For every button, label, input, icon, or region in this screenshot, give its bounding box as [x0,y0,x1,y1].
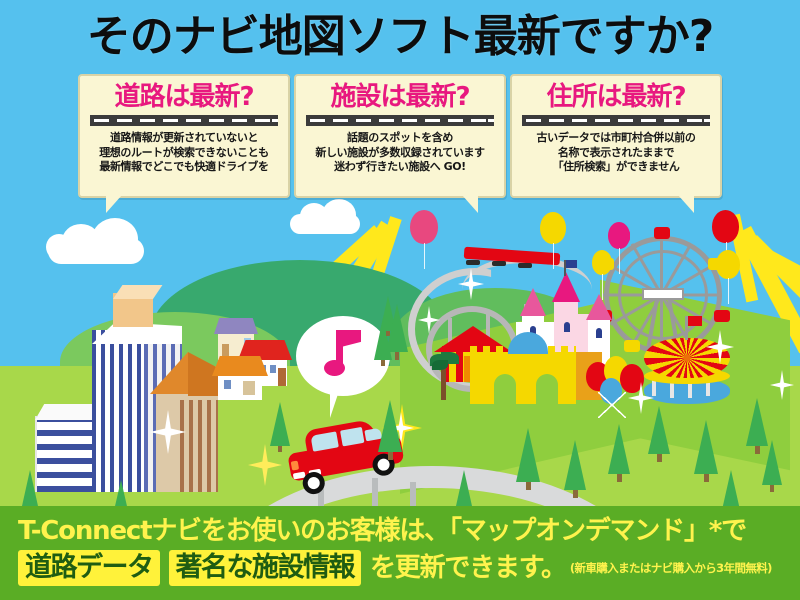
carousel-icon [644,330,730,404]
balloon-icon [712,210,739,243]
card-line: 名称で表示されたままで [518,146,714,161]
palm-tree-icon [430,352,458,400]
balloon-icon [592,250,612,275]
road-divider-icon [90,115,278,126]
card-line: 「住所検索」ができません [518,160,714,175]
feature-cards: 道路は最新? 道路情報が更新されていないと 理想のルートが検索できないことも 最… [0,74,800,214]
bottom-banner: T-Connectナビをお使いのお客様は、「マップオンデマンド」*で 道路データ… [0,506,800,600]
feature-card-addresses[interactable]: 住所は最新? 古いデータでは市町村合併以前の 名称で表示されたままで 「住所検索… [510,74,722,198]
tag-road-data: 道路データ [18,550,160,586]
page-title: そのナビ地図ソフト最新ですか? [0,8,800,66]
balloon-icon [608,222,630,249]
tree-icon [608,424,630,482]
park-gate-icon [470,352,576,404]
feature-card-roads[interactable]: 道路は最新? 道路情報が更新されていないと 理想のルートが検索できないことも 最… [78,74,290,198]
gondola [654,227,670,239]
banner-footnote: (新車購入またはナビ購入から3年間無料) [570,560,772,576]
card-line: 話題のスポットを含め [302,131,498,146]
park-gate-arch [536,374,558,404]
banner-line-1: T-Connectナビをお使いのお客様は、「マップオンデマンド」*で [18,514,746,548]
house-door [278,368,286,386]
house-window [224,380,231,389]
house-roof [214,318,258,334]
balloon-icon [540,212,566,244]
tree-icon [516,428,540,490]
tag-facility-info: 著名な施設情報 [169,550,362,586]
house-door [222,344,229,358]
card-line: 道路情報が更新されていないと [86,131,282,146]
cloud-icon [48,238,144,264]
cloud-icon [290,214,360,234]
poster: そのナビ地図ソフト最新ですか? 道路は最新? 道路情報が更新されていないと 理想… [0,0,800,600]
house-door [243,381,255,395]
tree-icon [270,402,290,452]
house-window [270,365,276,373]
card-title: 施設は最新? [302,82,498,112]
balloon-icon [410,210,438,244]
card-title: 住所は最新? [518,82,714,112]
music-note-icon [324,330,362,378]
house-roof [212,356,268,376]
tree-icon [694,420,718,482]
card-line: 最新情報でどこでも快適ドライブを [86,160,282,175]
card-line: 新しい施設が多数収録されています [302,146,498,161]
banner-update-text: を更新できます。 [370,552,566,584]
card-title: 道路は最新? [86,82,282,112]
card-line: 理想のルートが検索できないことも [86,146,282,161]
balloon-strings [598,392,626,418]
tree-icon [386,304,408,360]
music-note-bubble-tail [330,388,340,418]
balloon-icon [716,250,740,279]
card-line: 古いデータでは市町村合併以前の [518,131,714,146]
park-gate-arch [494,374,516,404]
road-divider-icon [306,115,494,126]
civic-building-columns [180,400,218,492]
gondola [624,340,640,352]
road-divider-icon [522,115,710,126]
card-tail [678,195,694,213]
card-line: 迷わず行きたい施設へ GO! [302,160,498,175]
tree-icon [378,400,402,460]
banner-line-2: 道路データ 著名な施設情報 を更新できます。 (新車購入またはナビ購入から3年間… [18,550,772,586]
tree-icon [762,440,782,492]
office-building-icon [92,330,144,492]
feature-card-facilities[interactable]: 施設は最新? 話題のスポットを含め 新しい施設が多数収録されています 迷わず行き… [294,74,506,198]
gondola [714,310,730,322]
tree-icon [648,406,670,462]
card-tail [462,195,478,213]
tree-icon [564,440,586,498]
card-tail [106,195,122,213]
